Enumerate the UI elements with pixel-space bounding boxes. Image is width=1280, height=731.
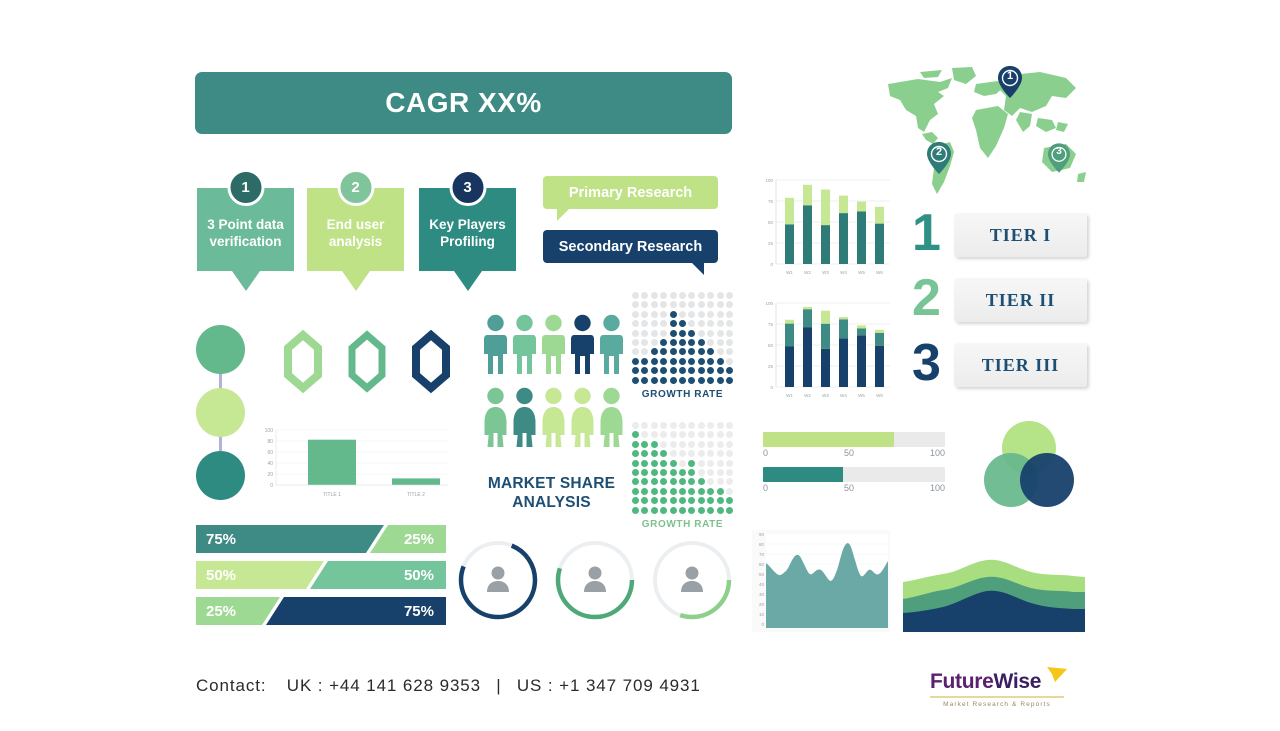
growth-dot bbox=[726, 497, 733, 504]
svg-text:40: 40 bbox=[759, 582, 765, 587]
svg-text:60: 60 bbox=[759, 562, 765, 567]
growth-dot bbox=[698, 507, 705, 514]
growth-dot bbox=[707, 488, 714, 495]
slider-1-track[interactable] bbox=[763, 432, 945, 447]
svg-text:20: 20 bbox=[267, 472, 273, 478]
growth-dot bbox=[679, 460, 686, 467]
svg-text:W3: W3 bbox=[822, 270, 829, 275]
slider-1-max: 100 bbox=[930, 448, 945, 458]
person-male-icon bbox=[512, 314, 537, 376]
growth-dot bbox=[641, 348, 648, 355]
stacked-bar-chart-bottom: 10075 50250 W1W2W3 W4W5W6 bbox=[752, 291, 894, 411]
growth-dot bbox=[632, 339, 639, 346]
growth-dot bbox=[726, 377, 733, 384]
growth-dot bbox=[641, 292, 648, 299]
person-male bbox=[483, 314, 508, 381]
person-female-icon bbox=[541, 387, 566, 449]
growth-dot bbox=[698, 377, 705, 384]
growth-dot bbox=[726, 301, 733, 308]
growth-dot bbox=[670, 358, 677, 365]
growth-dot bbox=[670, 330, 677, 337]
growth-dot bbox=[651, 460, 658, 467]
growth-dot bbox=[660, 348, 667, 355]
person-icon bbox=[584, 567, 606, 593]
growth-dot bbox=[651, 422, 658, 429]
person-female bbox=[570, 387, 595, 454]
growth-dot bbox=[707, 497, 714, 504]
svg-text:25: 25 bbox=[768, 364, 774, 369]
map-pin-1[interactable]: 1 bbox=[998, 66, 1022, 103]
svg-text:W3: W3 bbox=[822, 393, 829, 398]
process-card-1-tail bbox=[232, 271, 260, 291]
growth-dot bbox=[660, 292, 667, 299]
venn-circle-right bbox=[1020, 453, 1074, 507]
us-phone: +1 347 709 4931 bbox=[559, 676, 701, 695]
growth-dot bbox=[726, 431, 733, 438]
growth-dot bbox=[698, 431, 705, 438]
growth-dot bbox=[679, 488, 686, 495]
growth-dot bbox=[679, 469, 686, 476]
logo-wise-text: Wise bbox=[994, 670, 1042, 693]
gauge-1 bbox=[456, 538, 540, 627]
growth-dot bbox=[632, 330, 639, 337]
growth-dot bbox=[688, 478, 695, 485]
growth-dot bbox=[707, 339, 714, 346]
slider-2-fill bbox=[763, 467, 843, 482]
growth-dot bbox=[679, 311, 686, 318]
growth-dot bbox=[670, 441, 677, 448]
tier-row-2[interactable]: TIER II 2 bbox=[912, 278, 1087, 322]
slider-group: 0 50 100 0 50 100 bbox=[763, 432, 945, 493]
growth-dot bbox=[641, 507, 648, 514]
growth-dot bbox=[641, 422, 648, 429]
growth-dot bbox=[707, 478, 714, 485]
growth-dot bbox=[726, 320, 733, 327]
growth-dot bbox=[660, 367, 667, 374]
growth-dot bbox=[679, 330, 686, 337]
circle-stack-item-1 bbox=[196, 325, 245, 374]
growth-dot bbox=[660, 358, 667, 365]
tier-2-number: 2 bbox=[912, 272, 941, 324]
svg-text:75: 75 bbox=[768, 199, 774, 204]
uk-phone: +44 141 628 9353 bbox=[329, 676, 481, 695]
hexagon-1 bbox=[288, 335, 318, 388]
growth-dot bbox=[670, 460, 677, 467]
person-female bbox=[541, 387, 566, 454]
svg-text:0: 0 bbox=[270, 483, 273, 489]
slider-1-mid: 50 bbox=[844, 448, 854, 458]
growth-dot bbox=[641, 358, 648, 365]
market-share-title-line2: ANALYSIS bbox=[483, 493, 620, 512]
tier-3-label: TIER III bbox=[982, 355, 1060, 376]
slider-1-min: 0 bbox=[763, 448, 768, 458]
growth-dot bbox=[726, 469, 733, 476]
growth-dot bbox=[660, 488, 667, 495]
growth-dot bbox=[641, 320, 648, 327]
people-row-female bbox=[483, 387, 624, 454]
process-card-3-tail bbox=[454, 271, 482, 291]
cagr-banner-text: CAGR XX% bbox=[385, 87, 541, 119]
growth-dot bbox=[679, 422, 686, 429]
growth-dot bbox=[670, 292, 677, 299]
growth-dot bbox=[679, 478, 686, 485]
growth-rate-panel-1: GROWTH RATE bbox=[632, 292, 733, 400]
circle-stack-item-3 bbox=[196, 451, 245, 500]
mini-bar-chart: 1008060 40200 TITLE 1TITLE 2 bbox=[256, 422, 452, 507]
svg-text:100: 100 bbox=[765, 178, 773, 183]
svg-text:W6: W6 bbox=[876, 270, 883, 275]
growth-dot bbox=[679, 497, 686, 504]
growth-dot bbox=[632, 469, 639, 476]
person-female-icon bbox=[599, 387, 624, 449]
svg-text:40: 40 bbox=[267, 461, 273, 467]
map-pin-2[interactable]: 2 bbox=[927, 142, 951, 179]
growth-dot bbox=[632, 311, 639, 318]
growth-dot bbox=[707, 348, 714, 355]
growth-dot bbox=[651, 478, 658, 485]
growth-dot bbox=[632, 497, 639, 504]
growth-dot bbox=[660, 478, 667, 485]
percent-ribbon-3-right: 75% bbox=[404, 603, 434, 620]
growth-dot bbox=[679, 377, 686, 384]
growth-dot bbox=[660, 301, 667, 308]
growth-dot bbox=[707, 431, 714, 438]
growth-dot bbox=[651, 497, 658, 504]
growth-dot bbox=[726, 339, 733, 346]
growth-dot bbox=[632, 478, 639, 485]
growth-dot bbox=[660, 497, 667, 504]
person-male bbox=[599, 314, 624, 381]
hexagon-group bbox=[270, 330, 465, 405]
growth-dot bbox=[679, 292, 686, 299]
growth-dot bbox=[632, 358, 639, 365]
growth-dot bbox=[726, 358, 733, 365]
person-male-icon bbox=[541, 314, 566, 376]
growth-dot bbox=[707, 367, 714, 374]
growth-dot bbox=[688, 320, 695, 327]
svg-text:W5: W5 bbox=[858, 393, 865, 398]
growth-dot bbox=[641, 469, 648, 476]
growth-dot bbox=[660, 330, 667, 337]
growth-dot bbox=[632, 320, 639, 327]
svg-text:50: 50 bbox=[768, 343, 774, 348]
person-female bbox=[599, 387, 624, 454]
growth-dot bbox=[660, 450, 667, 457]
growth-dot bbox=[717, 469, 724, 476]
process-card-2-tail bbox=[342, 271, 370, 291]
futurewise-logo[interactable]: FutureWise Market Research & Reports bbox=[930, 670, 1070, 708]
growth-dot bbox=[679, 450, 686, 457]
svg-text:25: 25 bbox=[768, 241, 774, 246]
growth-dot bbox=[717, 358, 724, 365]
growth-dot bbox=[679, 358, 686, 365]
growth-dot bbox=[707, 422, 714, 429]
growth-dot bbox=[717, 339, 724, 346]
flag-icon bbox=[1046, 666, 1068, 684]
stacked-bar-chart-top-svg: 10075 50250 W1W2W3 W4W5W6 bbox=[752, 168, 894, 283]
growth-dot bbox=[670, 367, 677, 374]
process-card-1[interactable]: 1 3 Point data verification bbox=[197, 188, 294, 291]
growth-dot bbox=[717, 460, 724, 467]
growth-dot bbox=[698, 497, 705, 504]
process-card-2-label: End user analysis bbox=[307, 217, 404, 251]
market-share-title-line1: MARKET SHARE bbox=[483, 474, 620, 493]
person-male bbox=[570, 314, 595, 381]
percent-ribbon-1: 75% 25% bbox=[196, 525, 446, 553]
growth-dot bbox=[641, 311, 648, 318]
growth-dot bbox=[726, 488, 733, 495]
growth-dot bbox=[660, 441, 667, 448]
growth-dot bbox=[698, 330, 705, 337]
person-female bbox=[483, 387, 508, 454]
svg-text:W4: W4 bbox=[840, 270, 847, 275]
map-pin-3[interactable]: 3 bbox=[1048, 143, 1070, 178]
growth-rate-caption-1: GROWTH RATE bbox=[632, 389, 733, 400]
growth-rate-dot-grid-1 bbox=[632, 292, 733, 384]
growth-dot bbox=[641, 441, 648, 448]
growth-dot bbox=[679, 320, 686, 327]
growth-dot bbox=[717, 348, 724, 355]
slider-2-mid: 50 bbox=[844, 483, 854, 493]
growth-dot bbox=[660, 460, 667, 467]
slider-2-min: 0 bbox=[763, 483, 768, 493]
growth-dot bbox=[726, 478, 733, 485]
svg-text:W5: W5 bbox=[858, 270, 865, 275]
area-chart-single: 908070 605040 3020100 bbox=[752, 530, 890, 637]
growth-dot bbox=[670, 320, 677, 327]
growth-dot bbox=[707, 320, 714, 327]
percent-ribbon-1-right: 25% bbox=[404, 531, 434, 548]
slider-2-max: 100 bbox=[930, 483, 945, 493]
primary-research-label: Primary Research bbox=[569, 185, 692, 201]
growth-rate-dot-grid-2 bbox=[632, 422, 733, 514]
growth-dot bbox=[688, 311, 695, 318]
growth-dot bbox=[670, 301, 677, 308]
growth-dot bbox=[632, 450, 639, 457]
area-chart-stacked bbox=[903, 530, 1085, 637]
growth-dot bbox=[688, 497, 695, 504]
primary-research-bubble[interactable]: Primary Research bbox=[543, 176, 718, 209]
tier-row-3[interactable]: TIER III 3 bbox=[912, 343, 1087, 387]
primary-research-nub bbox=[557, 208, 570, 221]
growth-dot bbox=[726, 460, 733, 467]
svg-text:30: 30 bbox=[759, 592, 765, 597]
growth-dot bbox=[688, 422, 695, 429]
growth-rate-caption-2: GROWTH RATE bbox=[632, 519, 733, 530]
svg-text:80: 80 bbox=[267, 439, 273, 445]
growth-dot bbox=[632, 292, 639, 299]
growth-dot bbox=[707, 450, 714, 457]
svg-text:60: 60 bbox=[267, 450, 273, 456]
slider-1[interactable]: 0 50 100 bbox=[763, 432, 945, 458]
growth-dot bbox=[717, 441, 724, 448]
hexagon-group-svg bbox=[270, 330, 465, 400]
growth-dot bbox=[651, 507, 658, 514]
map-pin-1-label: 1 bbox=[998, 70, 1022, 82]
growth-dot bbox=[651, 320, 658, 327]
growth-dot bbox=[660, 469, 667, 476]
growth-dot bbox=[707, 358, 714, 365]
growth-dot bbox=[717, 507, 724, 514]
svg-text:50: 50 bbox=[759, 572, 765, 577]
growth-dot bbox=[670, 507, 677, 514]
growth-dot bbox=[698, 441, 705, 448]
svg-text:TITLE 1: TITLE 1 bbox=[323, 492, 341, 498]
growth-dot bbox=[717, 478, 724, 485]
svg-text:10: 10 bbox=[759, 612, 765, 617]
growth-dot bbox=[660, 320, 667, 327]
growth-dot bbox=[698, 469, 705, 476]
growth-dot bbox=[670, 422, 677, 429]
growth-dot bbox=[726, 367, 733, 374]
growth-dot bbox=[698, 348, 705, 355]
growth-dot bbox=[670, 348, 677, 355]
percent-ribbons: 75% 25% 50% 50% 25% 75% bbox=[196, 525, 446, 633]
secondary-research-bubble[interactable]: Secondary Research bbox=[543, 230, 718, 263]
svg-text:W1: W1 bbox=[786, 270, 793, 275]
map-pin-3-label: 3 bbox=[1048, 146, 1070, 157]
person-icon bbox=[681, 567, 703, 593]
growth-dot bbox=[641, 330, 648, 337]
percent-ribbon-2-left: 50% bbox=[206, 567, 236, 584]
growth-dot bbox=[688, 292, 695, 299]
growth-dot bbox=[651, 358, 658, 365]
mini-bar-chart-svg: 1008060 40200 TITLE 1TITLE 2 bbox=[256, 422, 452, 502]
logo-tagline: Market Research & Reports bbox=[930, 701, 1064, 708]
growth-dot bbox=[688, 460, 695, 467]
growth-dot bbox=[632, 348, 639, 355]
area-chart-single-svg: 908070 605040 3020100 bbox=[752, 530, 890, 632]
cagr-banner: CAGR XX% bbox=[195, 72, 732, 134]
growth-dot bbox=[651, 367, 658, 374]
growth-dot bbox=[726, 422, 733, 429]
svg-text:75: 75 bbox=[768, 322, 774, 327]
process-card-1-badge: 1 bbox=[227, 169, 264, 206]
growth-dot bbox=[707, 301, 714, 308]
growth-dot bbox=[632, 431, 639, 438]
growth-dot bbox=[679, 441, 686, 448]
growth-dot bbox=[726, 292, 733, 299]
growth-dot bbox=[698, 358, 705, 365]
growth-dot bbox=[688, 339, 695, 346]
growth-dot bbox=[679, 431, 686, 438]
growth-dot bbox=[717, 320, 724, 327]
growth-dot bbox=[641, 301, 648, 308]
growth-dot bbox=[670, 478, 677, 485]
growth-dot bbox=[717, 488, 724, 495]
gauge-2-svg bbox=[553, 538, 637, 622]
svg-text:W4: W4 bbox=[840, 393, 847, 398]
tier-1-label: TIER I bbox=[990, 225, 1052, 246]
venn-diagram bbox=[978, 420, 1082, 517]
slider-2-track[interactable] bbox=[763, 467, 945, 482]
growth-dot bbox=[632, 377, 639, 384]
growth-dot bbox=[698, 488, 705, 495]
growth-dot bbox=[679, 339, 686, 346]
process-card-3[interactable]: 3 Key Players Profiling bbox=[419, 188, 516, 291]
person-male-icon bbox=[570, 314, 595, 376]
process-card-2[interactable]: 2 End user analysis bbox=[307, 188, 404, 291]
stacked-bar-chart-top: 10075 50250 W1W2W3 W4W5W6 bbox=[752, 168, 894, 288]
tier-row-1[interactable]: TIER I 1 bbox=[912, 213, 1087, 257]
growth-dot bbox=[651, 431, 658, 438]
growth-dot bbox=[707, 460, 714, 467]
slider-2[interactable]: 0 50 100 bbox=[763, 467, 945, 493]
svg-text:W2: W2 bbox=[804, 270, 811, 275]
growth-dot bbox=[707, 330, 714, 337]
svg-text:W6: W6 bbox=[876, 393, 883, 398]
growth-dot bbox=[632, 441, 639, 448]
growth-dot bbox=[698, 422, 705, 429]
growth-dot bbox=[726, 311, 733, 318]
gauge-3 bbox=[650, 538, 734, 627]
venn-diagram-svg bbox=[978, 420, 1082, 512]
growth-dot bbox=[670, 339, 677, 346]
growth-dot bbox=[717, 311, 724, 318]
growth-dot bbox=[660, 431, 667, 438]
circle-stack bbox=[196, 325, 246, 500]
uk-label: UK : bbox=[287, 676, 324, 695]
growth-dot bbox=[670, 311, 677, 318]
growth-dot bbox=[660, 507, 667, 514]
growth-dot bbox=[707, 507, 714, 514]
svg-text:50: 50 bbox=[768, 220, 774, 225]
growth-dot bbox=[670, 497, 677, 504]
growth-dot bbox=[688, 441, 695, 448]
us-label: US : bbox=[517, 676, 554, 695]
secondary-research-label: Secondary Research bbox=[559, 239, 702, 255]
growth-dot bbox=[688, 507, 695, 514]
stacked-bar-chart-bottom-svg: 10075 50250 W1W2W3 W4W5W6 bbox=[752, 291, 894, 406]
growth-dot bbox=[688, 301, 695, 308]
svg-text:100: 100 bbox=[265, 428, 274, 434]
growth-dot bbox=[660, 311, 667, 318]
growth-dot bbox=[717, 377, 724, 384]
growth-dot bbox=[707, 311, 714, 318]
growth-dot bbox=[679, 367, 686, 374]
gauge-3-svg bbox=[650, 538, 734, 622]
growth-dot bbox=[651, 469, 658, 476]
logo-underline bbox=[930, 696, 1064, 698]
growth-dot bbox=[670, 450, 677, 457]
percent-ribbon-2: 50% 50% bbox=[196, 561, 446, 589]
growth-dot bbox=[670, 377, 677, 384]
growth-dot bbox=[641, 431, 648, 438]
growth-dot bbox=[641, 339, 648, 346]
growth-dot bbox=[717, 422, 724, 429]
svg-text:90: 90 bbox=[759, 532, 765, 537]
growth-dot bbox=[707, 469, 714, 476]
growth-dot bbox=[688, 330, 695, 337]
contact-line: Contact: UK : +44 141 628 9353 | US : +1… bbox=[196, 676, 701, 696]
growth-dot bbox=[726, 450, 733, 457]
svg-text:TITLE 2: TITLE 2 bbox=[407, 492, 425, 498]
growth-dot bbox=[698, 478, 705, 485]
growth-dot bbox=[660, 339, 667, 346]
person-male bbox=[541, 314, 566, 381]
slider-1-fill bbox=[763, 432, 894, 447]
growth-dot bbox=[641, 497, 648, 504]
growth-dot bbox=[717, 450, 724, 457]
tier-1-number: 1 bbox=[912, 207, 941, 259]
growth-dot bbox=[651, 292, 658, 299]
growth-dot bbox=[651, 330, 658, 337]
process-card-1-label: 3 Point data verification bbox=[197, 217, 294, 251]
person-female-icon bbox=[483, 387, 508, 449]
growth-dot bbox=[651, 348, 658, 355]
growth-dot bbox=[679, 507, 686, 514]
growth-dot bbox=[641, 488, 648, 495]
